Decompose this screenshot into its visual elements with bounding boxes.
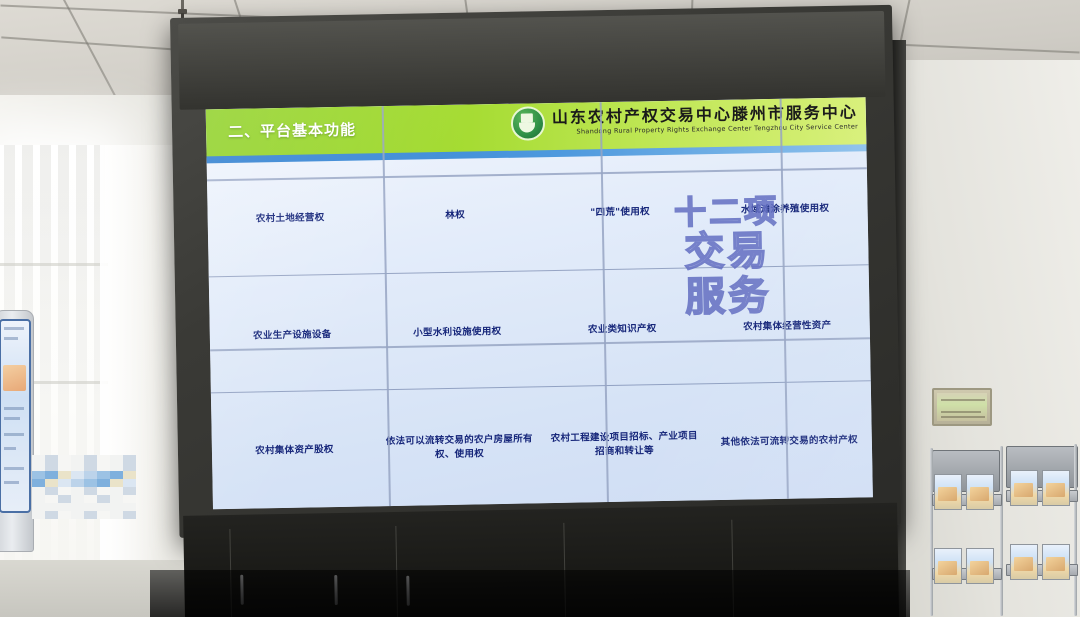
video-wall-screen[interactable]: 二、平台基本功能 山东农村产权交易中心滕州市服务中心 Shandong Rura…: [206, 97, 873, 509]
table-cell: 农村集体资产股权: [211, 393, 378, 508]
room-scene: 二、平台基本功能 山东农村产权交易中心滕州市服务中心 Shandong Rura…: [0, 0, 1080, 617]
brand-lockup: 山东农村产权交易中心滕州市服务中心 Shandong Rural Propert…: [511, 100, 859, 140]
wall-plaque: [932, 388, 992, 426]
table-row: 农村集体资产股权依法可以流转交易的农户房屋所有权、使用权农村工程建设项目招标、产…: [211, 384, 873, 508]
table-cell: 其他依法可流转交易的农村产权: [706, 384, 873, 499]
section-title: 二、平台基本功能: [228, 119, 356, 142]
floor-shadow: [150, 570, 910, 617]
table-row: 农业生产设施设备小型水利设施使用权农业类知识产权农村集体经营性资产: [209, 270, 871, 392]
table-cell: 农村工程建设项目招标、产业项目招商和转让等: [541, 387, 708, 502]
organization-logo-icon: [511, 106, 546, 141]
video-wall-bezel: 二、平台基本功能 山东农村产权交易中心滕州市服务中心 Shandong Rura…: [170, 5, 901, 538]
brochure-rack[interactable]: [926, 440, 1080, 617]
video-wall: 二、平台基本功能 山东农村产权交易中心滕州市服务中心 Shandong Rura…: [170, 5, 902, 578]
table-cell: 农业生产设施设备: [209, 279, 376, 392]
services-table: 农村土地经营权林权"四荒"使用权水域滩涂养殖使用权农业生产设施设备小型水利设施使…: [207, 152, 873, 509]
table-row: 农村土地经营权林权"四荒"使用权水域滩涂养殖使用权: [207, 152, 869, 276]
table-cell: 依法可以流转交易的农户房屋所有权、使用权: [376, 390, 543, 505]
presentation-slide: 二、平台基本功能 山东农村产权交易中心滕州市服务中心 Shandong Rura…: [206, 97, 873, 509]
information-kiosk[interactable]: [0, 310, 34, 552]
kiosk-screen: [0, 319, 31, 513]
table-cell: 农村集体经营性资产: [704, 270, 871, 383]
table-cell: 农业类知识产权: [539, 273, 706, 386]
table-cell: 小型水利设施使用权: [374, 276, 541, 389]
mosaic-censored-region: [32, 455, 138, 519]
